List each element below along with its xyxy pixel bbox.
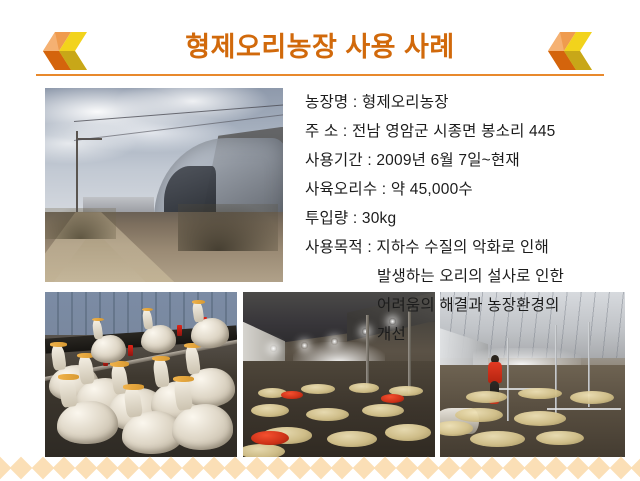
diamond-ornament [138,457,161,480]
page-title: 형제오리농장 사용 사례 [0,30,640,64]
diamond-ornament [395,457,418,480]
duck [141,325,176,353]
diamond-ornament [609,457,632,480]
slide-header: 형제오리농장 사용 사례 [0,0,640,78]
duckling-cluster [470,431,526,448]
duck [91,335,126,363]
duckling-cluster [570,391,614,404]
duck [57,401,118,444]
round-feeder [381,394,404,402]
duck [191,318,229,348]
support-post [507,338,509,421]
duck-bill [152,356,170,361]
farm-info-block: 농장명 : 형제오리농장 주 소 : 전남 영암군 시종면 봉소리 445 사용… [305,88,635,349]
duck-bill [123,384,144,390]
diamond-ornament [31,457,54,480]
roadside-brush-left [45,208,116,239]
slide: 형제오리농장 사용 사례 [0,0,640,481]
cube-ornament-right-icon [545,29,601,73]
diamond-ornament [545,457,568,480]
info-line-address: 주 소 : 전남 영암군 시종면 봉소리 445 [305,117,635,146]
info-line-purpose: 사용목적 : 지하수 수질의 악화로 인해 [305,233,635,262]
duck [172,404,233,450]
diamond-border [0,456,640,481]
diamond-ornament [588,457,611,480]
diamond-ornament [524,457,547,480]
utility-pole [76,131,78,212]
diamond-ornament [160,457,183,480]
duckling-cluster [466,391,507,403]
diamond-ornament [459,457,482,480]
diamond-ornament [438,457,461,480]
duck-bill [173,376,194,382]
diamond-ornament [53,457,76,480]
info-line-period: 사용기간 : 2009년 6월 7일~현재 [305,146,635,175]
photo-farm-road [45,88,283,282]
ceiling-lamp [270,345,277,352]
duck-bill [92,318,104,322]
diamond-ornament [74,457,97,480]
diamond-ornament [267,457,290,480]
diamond-ornament [566,457,589,480]
info-line-input-amount: 투입량 : 30kg [305,204,635,233]
info-line-farm-name: 농장명 : 형제오리농장 [305,88,635,117]
duckling-cluster [385,424,431,441]
round-feeder [281,391,302,399]
photo-farm-road-scene [45,88,283,282]
diamond-ornament [203,457,226,480]
drinker-nipple [177,325,182,336]
diamond-ornament [631,457,640,480]
title-divider [36,74,604,76]
cube-ornament-right [545,29,601,73]
duck-bill [58,374,79,380]
info-line-purpose-4: 개선 [305,320,635,349]
diamond-ornament [331,457,354,480]
diamond-ornament [96,457,119,480]
diamond-ornament [374,457,397,480]
info-line-purpose-2: 발생하는 오리의 설사로 인한 [305,262,635,291]
duckling-cluster [455,408,503,423]
duck-bill [192,300,205,304]
diamond-ornament [352,457,375,480]
duckling-cluster [440,421,473,436]
diamond-ornament [417,457,440,480]
photo-ducks-drinkers [45,292,237,457]
duckling-cluster [349,383,380,393]
drinker-nipple [128,345,133,356]
diamond-ornament [310,457,333,480]
diamond-ornament [224,457,247,480]
diamond-ornament [502,457,525,480]
duckling-cluster [327,431,377,448]
diamond-ornament [117,457,140,480]
duck-bill [50,342,67,347]
diamond-ornament [288,457,311,480]
duckling-cluster [514,411,566,426]
diamond-ornament [181,457,204,480]
duckling-cluster [306,408,348,421]
guard-rail [547,408,621,410]
diamond-ornament [10,457,33,480]
roadside-brush-right [178,204,278,251]
info-line-duck-count: 사육오리수 : 약 45,000수 [305,175,635,204]
info-line-purpose-3: 어려움의 해결과 농장환경의 [305,291,635,320]
diamond-ornament [245,457,268,480]
diamond-ornament [481,457,504,480]
worker-jacket [488,362,502,383]
photo-ducks-scene [45,292,237,457]
